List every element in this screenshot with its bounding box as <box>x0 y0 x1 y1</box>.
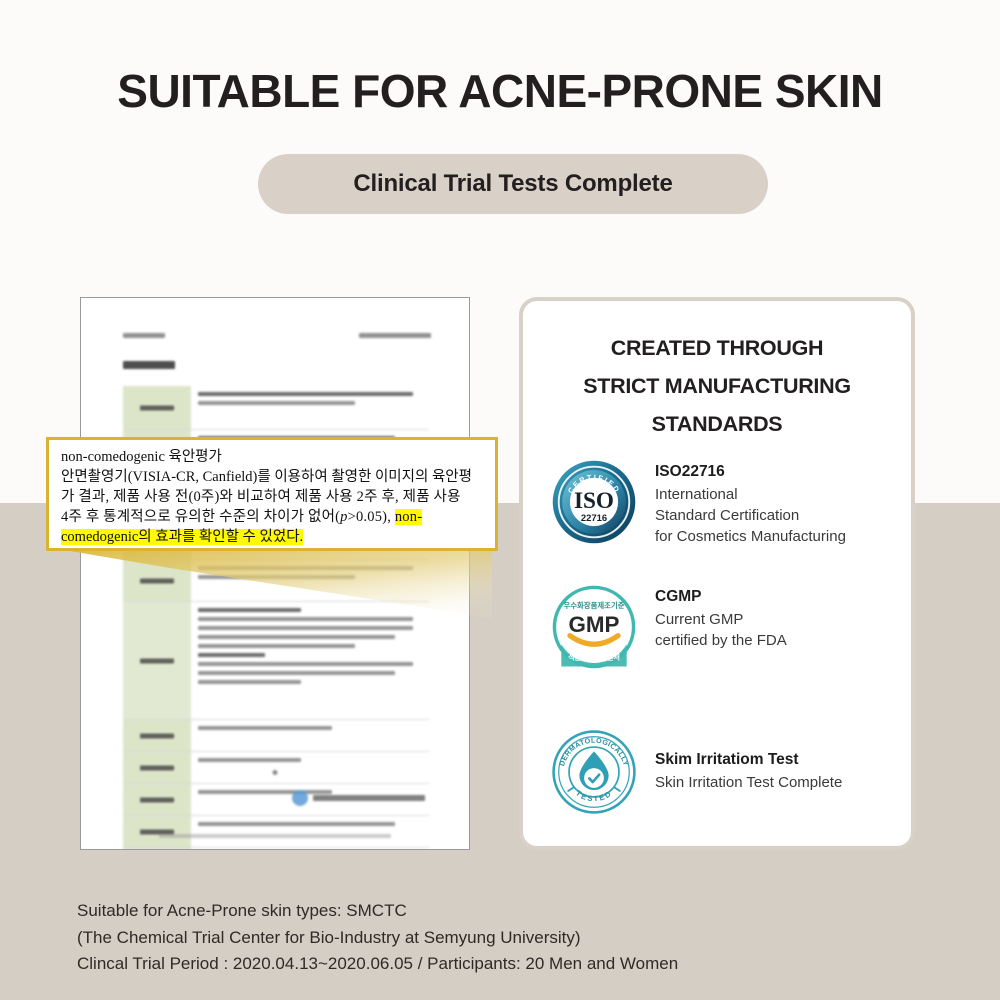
iso-certified-badge-icon: CERTIFIED ISO 22716 <box>551 459 637 545</box>
callout-line-5: comedogenic의 효과를 확인할 수 있었다. <box>61 527 485 547</box>
document-header-right <box>359 333 431 338</box>
cert-title-line-1: CREATED THROUGH <box>523 329 911 367</box>
list-item: DERMATOLOGICALLY TESTED Skim Irritatiom … <box>551 709 895 834</box>
certification-name: Skim Irritatiom Test <box>655 751 842 769</box>
callout-line-3: 가 결과, 제품 사용 전(0주)와 비교하여 제품 사용 2주 후, 제품 사… <box>61 487 485 507</box>
table-row <box>123 386 429 430</box>
table-row <box>123 560 429 602</box>
svg-text:TESTED: TESTED <box>574 788 614 803</box>
callout-line-2: 안면촬영기(VISIA-CR, Canfield)를 이용하여 촬영한 이미지의… <box>61 467 485 487</box>
table-row-label <box>123 752 191 783</box>
table-row-label <box>123 386 191 429</box>
cert-title-line-3: STANDARDS <box>523 405 911 443</box>
cgmp-badge-icon: 우수화장품제조기준 GMP 식품의약품안전처 <box>551 584 637 670</box>
table-row-label <box>123 816 191 847</box>
certification-desc-line-2: certified by the FDA <box>655 630 787 651</box>
iso-badge-main-text: ISO <box>574 488 614 514</box>
iso-badge-sub-text: 22716 <box>581 513 607 524</box>
table-row <box>123 848 429 850</box>
list-item: 우수화장품제조기준 GMP 식품의약품안전처 CGMP Current GMP … <box>551 584 895 709</box>
cert-panel-title: CREATED THROUGH STRICT MANUFACTURING STA… <box>523 329 911 443</box>
callout-highlight-2: comedogenic의 효과를 확인할 수 있었다. <box>61 529 303 545</box>
table-row-value <box>191 602 429 719</box>
footer-line-2: (The Chemical Trial Center for Bio-Indus… <box>77 925 937 952</box>
table-row-label <box>123 560 191 601</box>
certification-name: ISO22716 <box>655 463 846 481</box>
certification-desc-line-1: Current GMP <box>655 609 787 630</box>
callout-line-4: 4주 후 통계적으로 유의한 수준의 차이가 없어(p>0.05), non- <box>61 507 485 527</box>
callout-line-4-tail: >0.05), <box>348 509 395 525</box>
table-row-value <box>191 752 429 783</box>
list-item: CERTIFIED ISO 22716 ISO22716 Internation… <box>551 459 895 584</box>
footer-note: Suitable for Acne-Prone skin types: SMCT… <box>77 898 937 978</box>
document-footer-note <box>159 834 391 838</box>
table-row-value <box>191 816 429 847</box>
table-row-label <box>123 848 191 850</box>
manufacturing-standards-panel: CREATED THROUGH STRICT MANUFACTURING STA… <box>519 297 915 850</box>
table-row <box>123 752 429 784</box>
cert-title-line-2: STRICT MANUFACTURING <box>523 367 911 405</box>
certification-desc-line-3: for Cosmetics Manufacturing <box>655 526 846 547</box>
footer-line-1: Suitable for Acne-Prone skin types: SMCT… <box>77 898 937 925</box>
dermatologically-tested-badge-icon: DERMATOLOGICALLY TESTED <box>551 729 637 815</box>
document-scan-content <box>81 298 469 849</box>
page-title: SUITABLE FOR ACNE-PRONE SKIN <box>0 64 1000 118</box>
document-page-number <box>273 770 278 775</box>
callout-p-value-symbol: p <box>340 509 347 525</box>
table-row-value <box>191 560 429 601</box>
stamp-seal-icon <box>292 790 308 806</box>
table-row <box>123 602 429 720</box>
footer-line-3: Clincal Trial Period : 2020.04.13~2020.0… <box>77 951 937 978</box>
document-official-stamp <box>292 790 425 806</box>
table-row-value <box>191 386 429 429</box>
cgmp-badge-main-text: GMP <box>569 612 620 637</box>
cgmp-badge-top-text: 우수화장품제조기준 <box>563 601 624 610</box>
table-row-label <box>123 784 191 815</box>
certification-desc-line-2: Standard Certification <box>655 505 846 526</box>
document-section-heading <box>123 361 175 369</box>
status-badge-label: Clinical Trial Tests Complete <box>353 170 672 198</box>
cgmp-badge-sub-text: 식품의약품안전처 <box>568 653 620 662</box>
certification-list: CERTIFIED ISO 22716 ISO22716 Internation… <box>551 459 895 834</box>
callout-highlight-1: non- <box>395 509 422 525</box>
table-row-value <box>191 848 429 850</box>
table-row-label <box>123 602 191 719</box>
stamp-text <box>313 795 425 801</box>
status-badge: Clinical Trial Tests Complete <box>258 154 768 214</box>
certification-details: CGMP Current GMP certified by the FDA <box>655 584 787 651</box>
certification-name: CGMP <box>655 588 787 606</box>
certification-desc-line-1: International <box>655 484 846 505</box>
table-row-label <box>123 720 191 751</box>
certification-details: Skim Irritatiom Test Skin Irritation Tes… <box>655 751 842 793</box>
clinical-report-document <box>80 297 470 850</box>
table-row <box>123 816 429 848</box>
callout-annotation-box: non-comedogenic 육안평가 안면촬영기(VISIA-CR, Can… <box>46 437 498 551</box>
table-row <box>123 720 429 752</box>
certification-desc-line-1: Skin Irritation Test Complete <box>655 772 842 793</box>
certification-details: ISO22716 International Standard Certific… <box>655 459 846 547</box>
callout-line-4-text: 4주 후 통계적으로 유의한 수준의 차이가 없어( <box>61 509 340 525</box>
table-row-value <box>191 720 429 751</box>
document-header-left <box>123 333 165 338</box>
derm-badge-sub-text: TESTED <box>574 788 614 803</box>
page-root: SUITABLE FOR ACNE-PRONE SKIN Clinical Tr… <box>0 0 1000 1000</box>
callout-line-1: non-comedogenic 육안평가 <box>61 447 485 467</box>
